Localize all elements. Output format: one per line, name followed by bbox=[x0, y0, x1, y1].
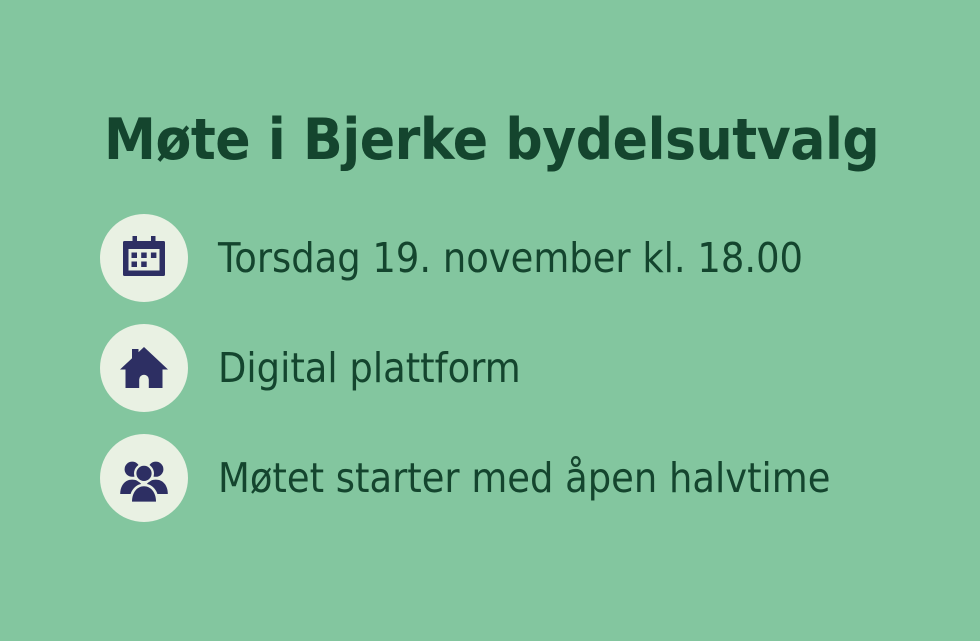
list-item-label: Møtet starter med åpen halvtime bbox=[218, 454, 830, 502]
people-group-icon-badge bbox=[100, 434, 188, 522]
calendar-icon bbox=[118, 232, 170, 284]
people-group-icon bbox=[118, 452, 170, 504]
event-details-list: Torsdag 19. november kl. 18.00 Digital p… bbox=[100, 214, 940, 544]
home-icon-badge bbox=[100, 324, 188, 412]
home-icon bbox=[118, 342, 170, 394]
list-item: Digital plattform bbox=[100, 324, 940, 412]
list-item: Torsdag 19. november kl. 18.00 bbox=[100, 214, 940, 302]
list-item-label: Torsdag 19. november kl. 18.00 bbox=[218, 234, 803, 282]
event-poster: Møte i Bjerke bydelsutvalg bbox=[0, 0, 980, 641]
list-item-label: Digital plattform bbox=[218, 344, 521, 392]
page-title: Møte i Bjerke bydelsutvalg bbox=[104, 104, 863, 176]
calendar-icon-badge bbox=[100, 214, 188, 302]
list-item: Møtet starter med åpen halvtime bbox=[100, 434, 940, 522]
